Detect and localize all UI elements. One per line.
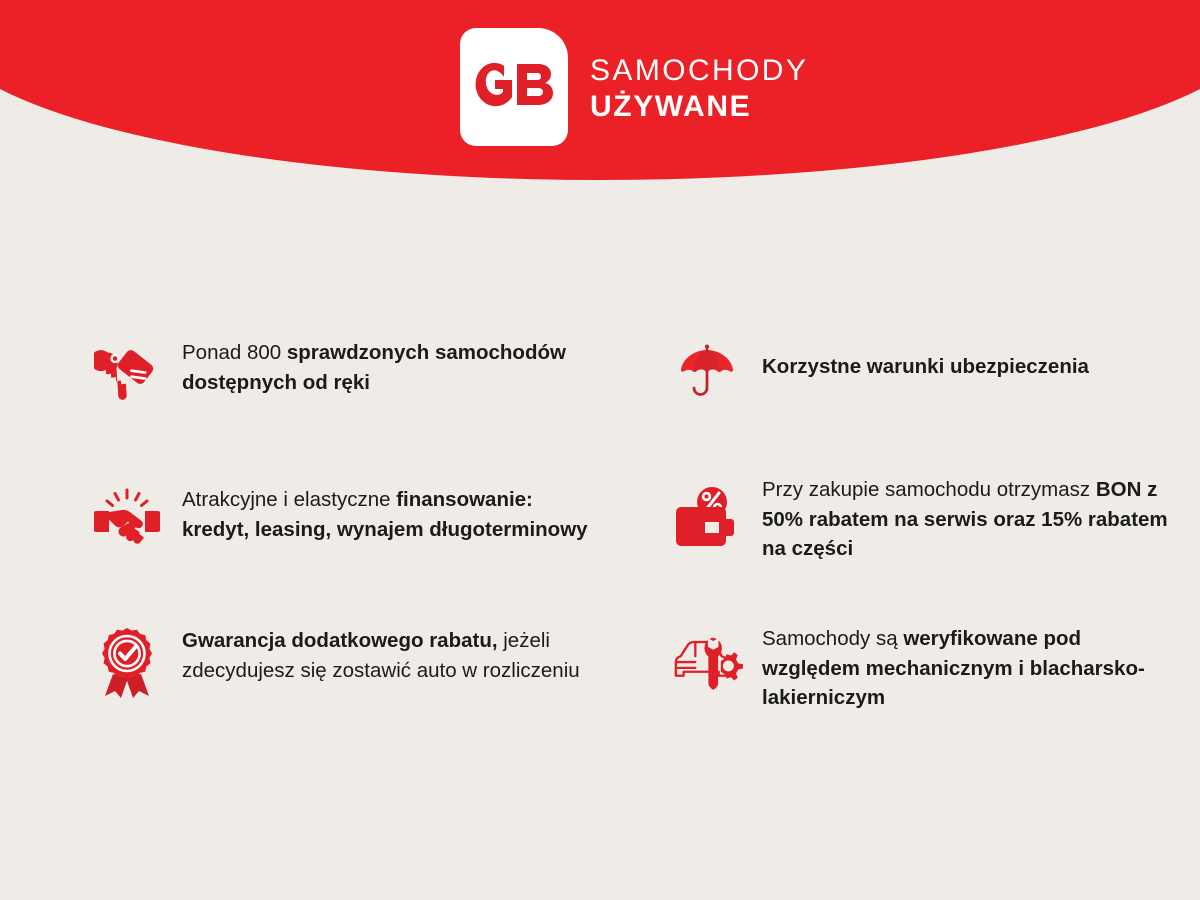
feature-item-cars-available: Ponad 800 sprawdzonych samochodów dostęp… bbox=[90, 330, 650, 475]
feature-item-discount-voucher: Przy zakupie samochodu otrzymasz BON z 5… bbox=[670, 475, 1200, 620]
feature-text-regular: Przy zakupie samochodu otrzymasz bbox=[762, 478, 1096, 501]
feature-text-bold: Korzystne warunki ubezpieczenia bbox=[762, 355, 1089, 378]
gb-logo-mark-icon bbox=[460, 28, 568, 146]
feature-text: Samochody są weryfikowane pod względem m… bbox=[762, 620, 1172, 713]
poster-canvas: SAMOCHODY UŻYWANE bbox=[0, 0, 1200, 900]
feature-text-regular: Atrakcyjne i elastyczne bbox=[182, 488, 396, 511]
wallet-percent-icon bbox=[670, 481, 744, 555]
feature-text-regular: Ponad 800 bbox=[182, 341, 287, 364]
car-keys-icon bbox=[90, 336, 164, 410]
brand-line-1: SAMOCHODY bbox=[590, 56, 808, 86]
umbrella-icon bbox=[670, 336, 744, 410]
feature-item-insurance: Korzystne warunki ubezpieczenia bbox=[670, 330, 1200, 475]
features-grid: Ponad 800 sprawdzonych samochodów dostęp… bbox=[0, 330, 1200, 765]
feature-item-financing: Atrakcyjne i elastyczne finansowanie: kr… bbox=[90, 475, 650, 620]
feature-text-regular: Samochody są bbox=[762, 627, 903, 650]
feature-text-bold: Gwarancja dodatkowego rabatu, bbox=[182, 629, 503, 652]
brand-line-2: UŻYWANE bbox=[590, 92, 808, 122]
feature-item-trade-in-guarantee: Gwarancja dodatkowego rabatu, jeżeli zde… bbox=[90, 620, 650, 765]
handshake-icon bbox=[90, 481, 164, 555]
feature-text: Atrakcyjne i elastyczne finansowanie: kr… bbox=[182, 475, 602, 544]
car-wrench-gear-icon bbox=[670, 626, 744, 700]
feature-item-vehicle-inspection: Samochody są weryfikowane pod względem m… bbox=[670, 620, 1200, 765]
feature-text: Gwarancja dodatkowego rabatu, jeżeli zde… bbox=[182, 620, 602, 685]
feature-text: Ponad 800 sprawdzonych samochodów dostęp… bbox=[182, 330, 602, 397]
feature-text: Przy zakupie samochodu otrzymasz BON z 5… bbox=[762, 475, 1172, 564]
feature-text: Korzystne warunki ubezpieczenia bbox=[762, 330, 1089, 382]
award-badge-check-icon bbox=[90, 626, 164, 700]
brand-logo-lockup: SAMOCHODY UŻYWANE bbox=[460, 28, 808, 146]
brand-wordmark: SAMOCHODY UŻYWANE bbox=[590, 52, 808, 122]
